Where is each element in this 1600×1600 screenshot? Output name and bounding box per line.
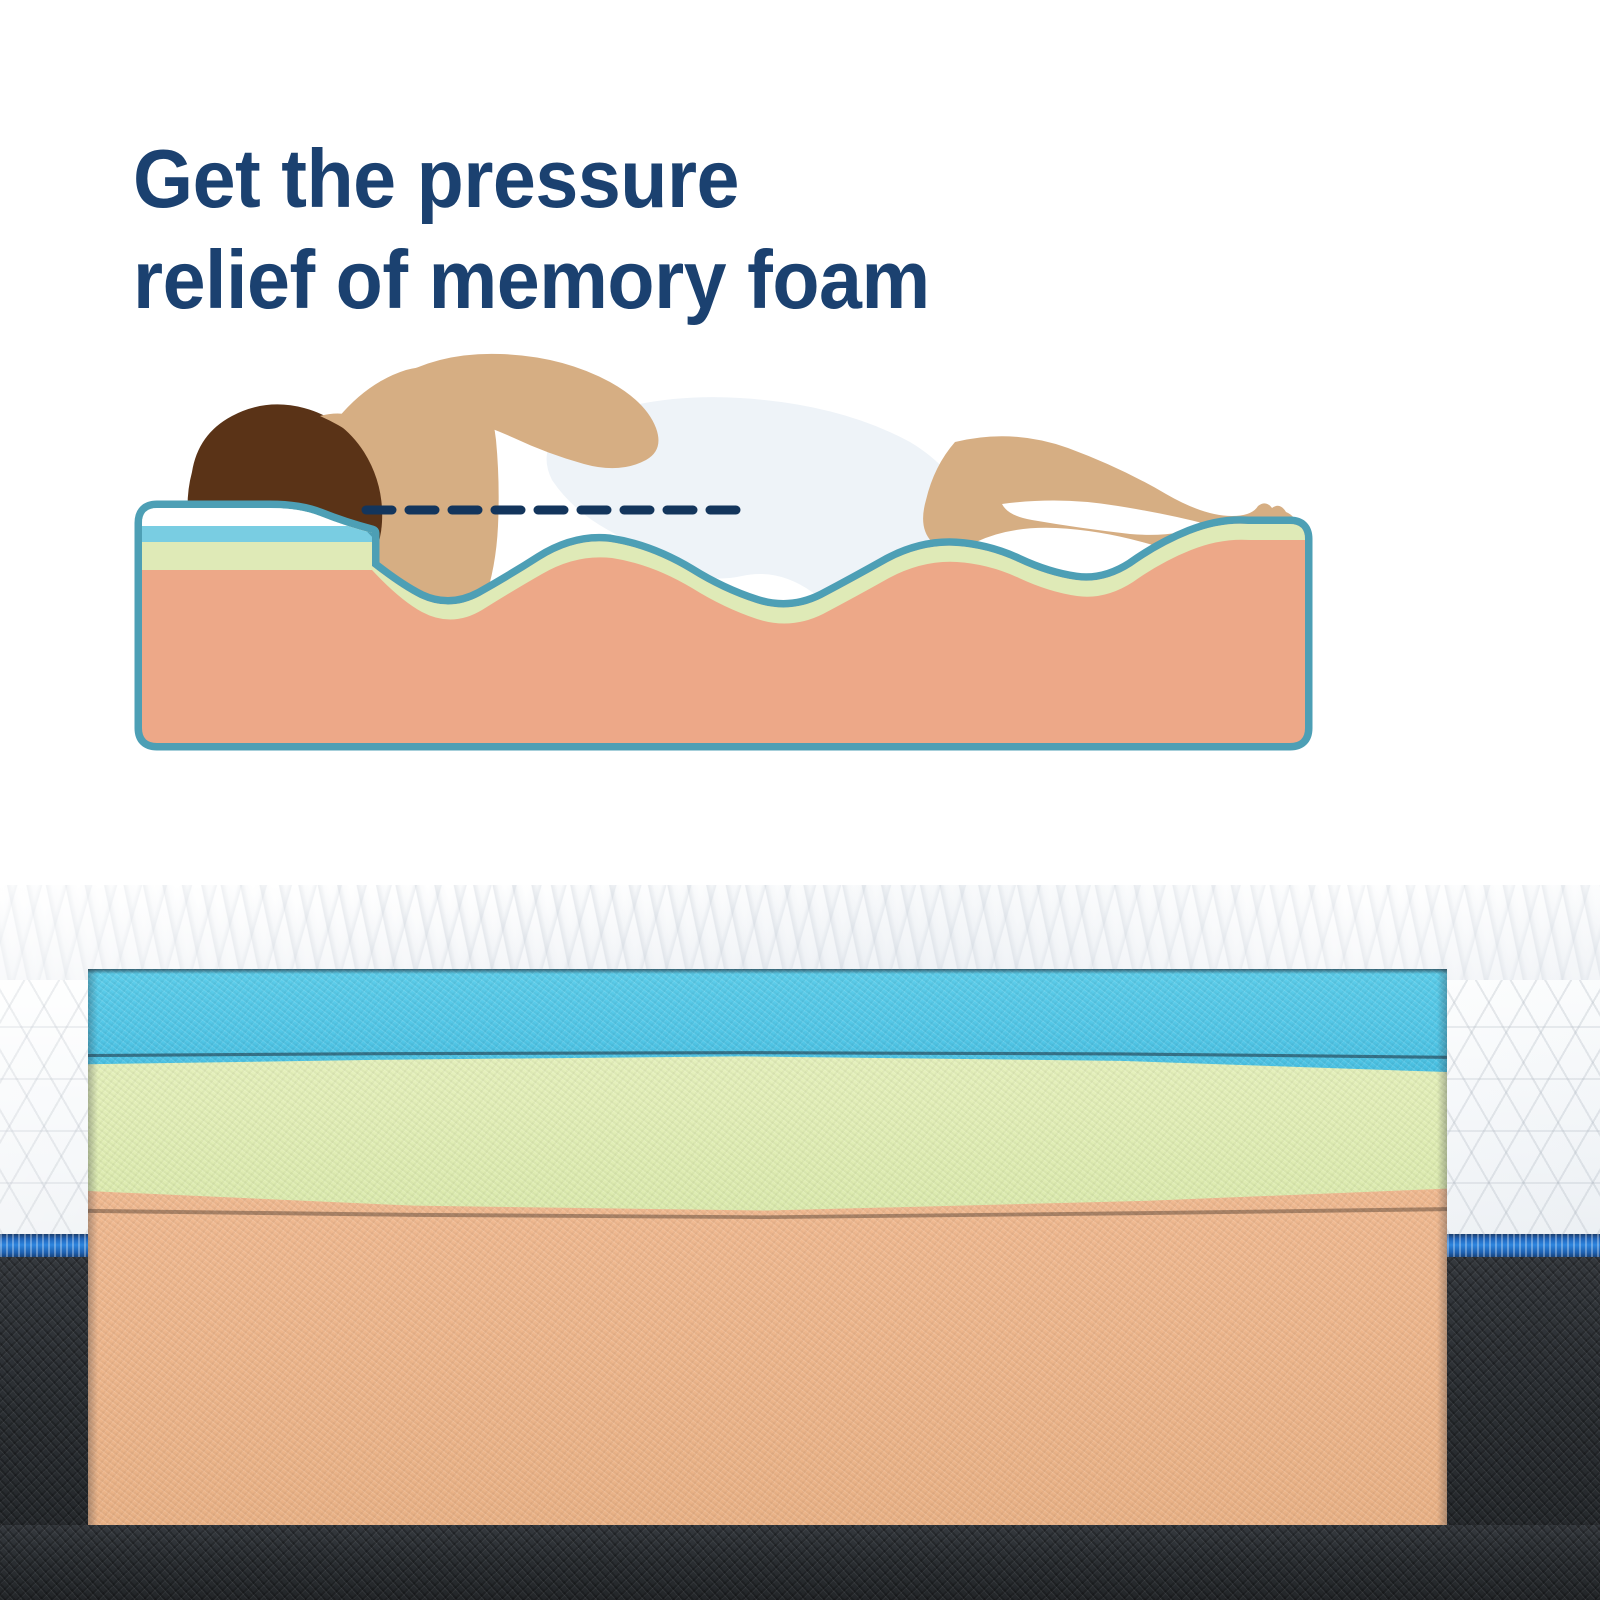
foam-cutaway [88, 969, 1447, 1525]
cover-hex-quilt-right [1447, 980, 1600, 1260]
side-sleeper-illustration [0, 330, 1600, 790]
infographic-page: Get the pressure relief of memory foam [0, 0, 1600, 1600]
cover-top-texture [0, 885, 1600, 980]
cover-hex-quilt-left [0, 980, 88, 1260]
top-white-panel: Get the pressure relief of memory foam [0, 0, 1600, 893]
mattress-cross-section-photo [0, 885, 1600, 1600]
charcoal-base-fabric-bottom [0, 1525, 1600, 1600]
page-title: Get the pressure relief of memory foam [133, 128, 1305, 331]
